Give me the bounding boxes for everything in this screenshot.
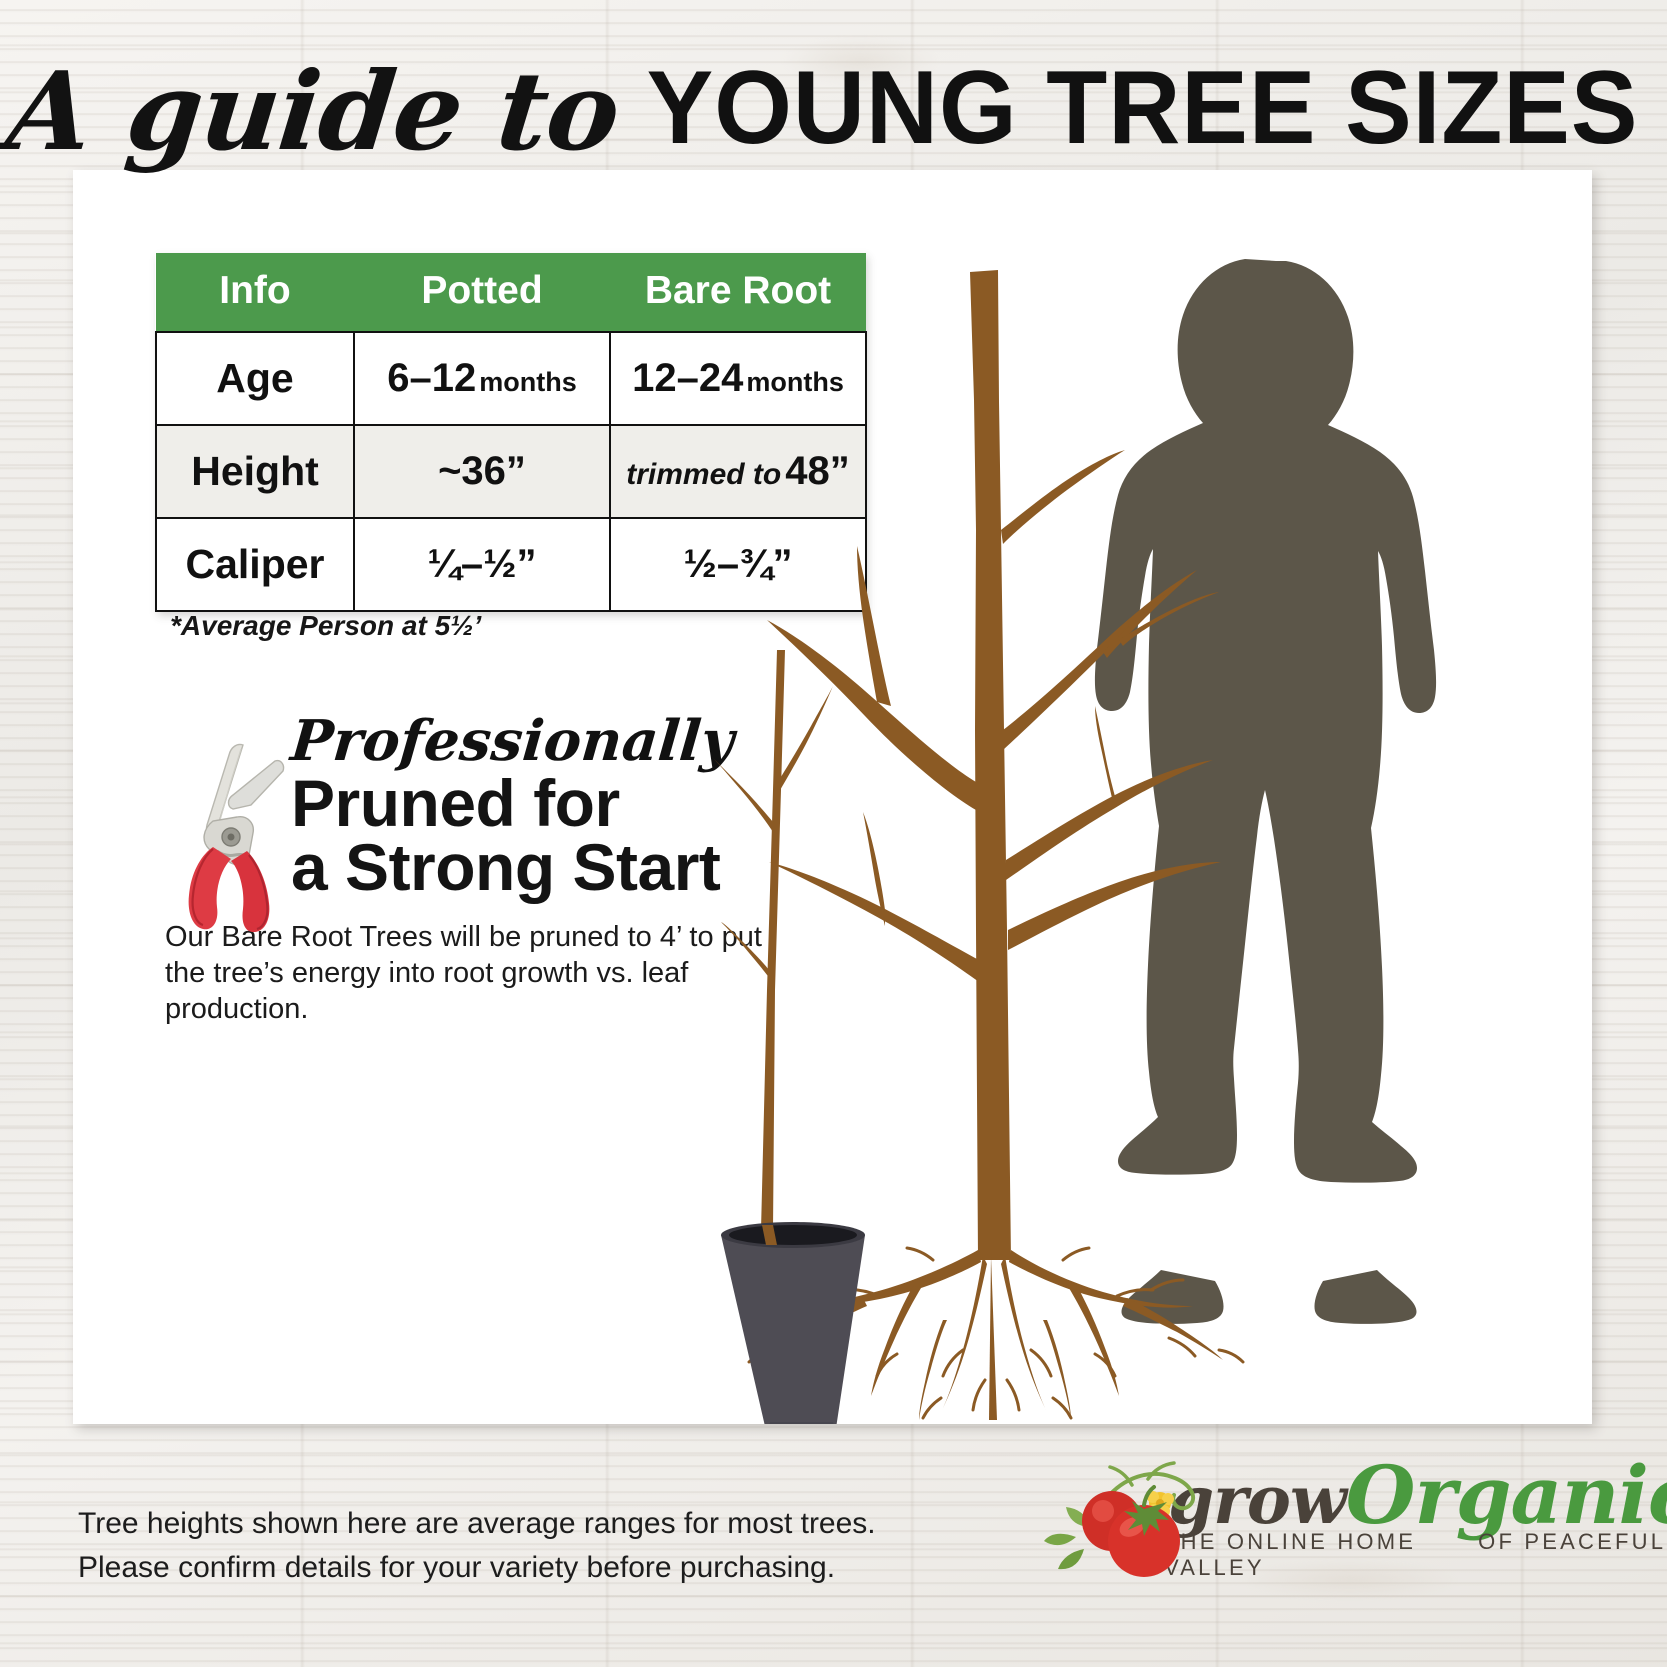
page-title-block: YOUNG TREE SIZES bbox=[647, 56, 1639, 160]
infographic-page: A guide toYOUNG TREE SIZES Info Potted B… bbox=[0, 0, 1667, 1667]
page-title-script: A guide to bbox=[2, 58, 632, 166]
footer-disclaimer: Tree heights shown here are average rang… bbox=[78, 1502, 876, 1589]
person-silhouette bbox=[1095, 259, 1436, 1324]
content-card: Info Potted Bare Root Age 6–12months 12–… bbox=[73, 170, 1592, 1424]
footer-disclaimer-line1: Tree heights shown here are average rang… bbox=[78, 1502, 876, 1546]
page-title: A guide toYOUNG TREE SIZES bbox=[0, 52, 1667, 160]
potted-tree bbox=[711, 650, 865, 1424]
tomato-cluster-icon bbox=[1040, 1455, 1540, 1585]
footer-disclaimer-line2: Please confirm details for your variety … bbox=[78, 1546, 876, 1590]
grow-organic-logo[interactable]: growOrganic.COM THE ONLINE HOMEOF PEACEF… bbox=[1040, 1455, 1667, 1581]
tree-size-illustration-group bbox=[73, 170, 1592, 1424]
